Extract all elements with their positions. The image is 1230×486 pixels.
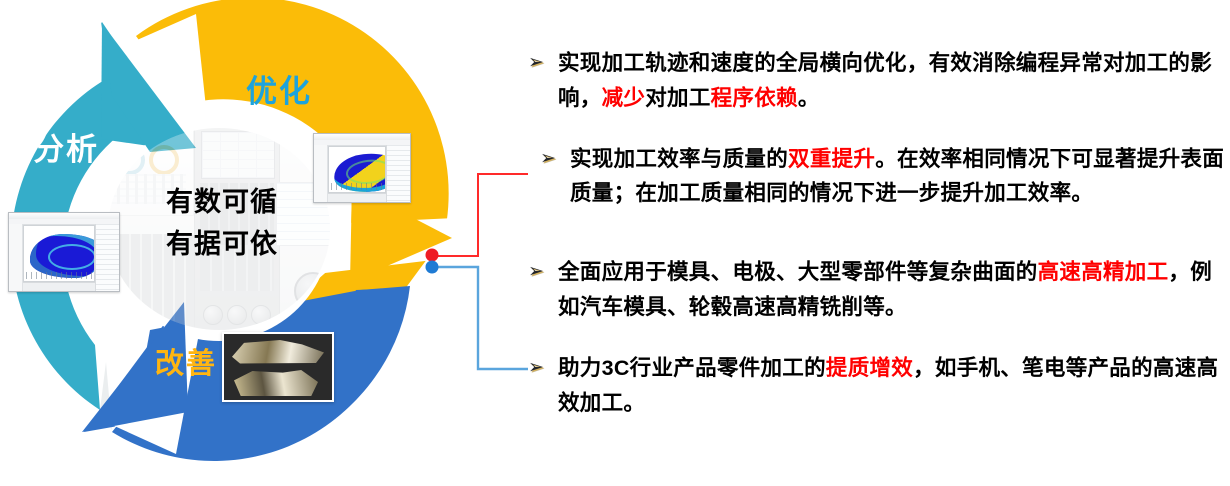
connector-lines (0, 0, 540, 486)
bullet-item-1[interactable]: ➢ 实现加工轨迹和速度的全局横向优化，有效消除编程异常对加工的影响，减少对加工程… (528, 46, 1228, 116)
highlighted-text: 程序依赖 (711, 86, 798, 110)
body-text: 全面应用于模具、电极、大型零部件等复杂曲面的 (558, 260, 1038, 284)
bullet-text-2: 实现加工效率与质量的双重提升。在效率相同情况下可显著提升表面质量；在加工质量相同… (570, 142, 1228, 212)
bullet-text-3: 全面应用于模具、电极、大型零部件等复杂曲面的高速高精加工，例如汽车模具、轮毂高速… (558, 255, 1228, 325)
highlighted-text: 减少 (602, 86, 646, 110)
body-text: 实现加工效率与质量的 (570, 147, 788, 171)
bullet-item-2[interactable]: ➢ 实现加工效率与质量的双重提升。在效率相同情况下可显著提升表面质量；在加工质量… (540, 142, 1228, 212)
highlighted-text: 提质增效 (826, 356, 913, 380)
bullet-list: ➢ 实现加工轨迹和速度的全局横向优化，有效消除编程异常对加工的影响，减少对加工程… (528, 46, 1228, 447)
red-connector-line (436, 174, 528, 256)
arrow-bullet-icon: ➢ (528, 255, 558, 289)
body-text: 。 (798, 86, 820, 110)
body-text: 助力3C行业产品零件加工的 (558, 356, 826, 380)
blue-connector-line (436, 267, 528, 369)
highlighted-text: 双重提升 (788, 147, 875, 171)
bullet-text-1: 实现加工轨迹和速度的全局横向优化，有效消除编程异常对加工的影响，减少对加工程序依… (558, 46, 1228, 116)
bullet-item-4[interactable]: ➢ 助力3C行业产品零件加工的提质增效，如手机、笔电等产品的高速高效加工。 (528, 351, 1228, 421)
arrow-bullet-icon: ➢ (528, 351, 558, 385)
highlighted-text: 高速高精加工 (1038, 260, 1169, 284)
arrow-bullet-icon: ➢ (528, 46, 558, 80)
blue-dot (426, 261, 439, 274)
bullet-text-4: 助力3C行业产品零件加工的提质增效，如手机、笔电等产品的高速高效加工。 (558, 351, 1228, 421)
body-text: 对加工 (645, 86, 710, 110)
bullet-item-3[interactable]: ➢ 全面应用于模具、电极、大型零部件等复杂曲面的高速高精加工，例如汽车模具、轮毂… (528, 255, 1228, 325)
arrow-bullet-icon: ➢ (540, 142, 570, 176)
red-dot (426, 249, 439, 262)
